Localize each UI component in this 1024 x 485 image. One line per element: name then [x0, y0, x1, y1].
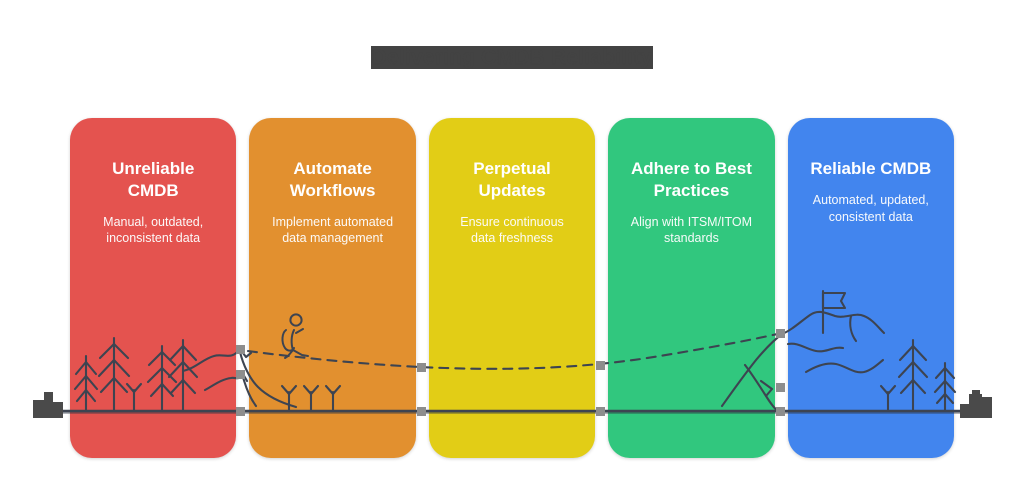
stage-card-adhere-to-best-practices[interactable]: Adhere to Best Practices Align with ITSM… — [608, 118, 774, 458]
left-end-marker — [33, 388, 63, 418]
card-title-line-1: Unreliable — [112, 159, 194, 178]
card-subtitle: Implement automated data management — [259, 214, 405, 248]
card-text-block: Automate Workflows Implement automated d… — [249, 158, 415, 247]
card-subtitle-line-1: Ensure continuous — [460, 215, 564, 229]
card-text-block: Adhere to Best Practices Align with ITSM… — [608, 158, 774, 247]
card-subtitle: Align with ITSM/ITOM standards — [618, 214, 764, 248]
card-title-line-1: Perpetual — [473, 159, 550, 178]
card-title: Automate Workflows — [259, 158, 405, 202]
card-subtitle: Manual, outdated, inconsistent data — [80, 214, 226, 248]
card-text-block: Unreliable CMDB Manual, outdated, incons… — [70, 158, 236, 247]
card-subtitle-line-1: Automated, updated, — [813, 193, 929, 207]
card-subtitle-line-2: inconsistent data — [106, 231, 200, 245]
card-subtitle: Ensure continuous data freshness — [439, 214, 585, 248]
card-title-line-2: Workflows — [290, 181, 376, 200]
infographic-canvas: Delivering CMDB Reliability Unreliable C… — [0, 0, 1024, 485]
card-title-line-1: Automate — [293, 159, 371, 178]
card-title: Adhere to Best Practices — [618, 158, 764, 202]
card-text-block: Reliable CMDB Automated, updated, consis… — [788, 158, 954, 226]
card-subtitle-line-2: consistent data — [829, 210, 913, 224]
stage-card-row: Unreliable CMDB Manual, outdated, incons… — [70, 118, 954, 458]
stage-card-perpetual-updates[interactable]: Perpetual Updates Ensure continuous data… — [429, 118, 595, 458]
card-title-line-2: Practices — [654, 181, 730, 200]
stage-card-unreliable-cmdb[interactable]: Unreliable CMDB Manual, outdated, incons… — [70, 118, 236, 458]
card-subtitle-line-1: Manual, outdated, — [103, 215, 203, 229]
card-subtitle-line-2: data management — [282, 231, 383, 245]
card-subtitle-line-1: Align with ITSM/ITOM — [631, 215, 752, 229]
page-title: Delivering CMDB Reliability — [0, 46, 1024, 70]
stage-card-reliable-cmdb[interactable]: Reliable CMDB Automated, updated, consis… — [788, 118, 954, 458]
card-subtitle-line-2: data freshness — [471, 231, 553, 245]
card-title-line-1: Reliable CMDB — [810, 159, 931, 178]
card-subtitle: Automated, updated, consistent data — [798, 192, 944, 226]
card-title: Perpetual Updates — [439, 158, 585, 202]
card-title: Unreliable CMDB — [80, 158, 226, 202]
card-title-line-2: CMDB — [128, 181, 179, 200]
stage-card-automate-workflows[interactable]: Automate Workflows Implement automated d… — [249, 118, 415, 458]
right-end-marker — [960, 388, 992, 418]
card-text-block: Perpetual Updates Ensure continuous data… — [429, 158, 595, 247]
card-title: Reliable CMDB — [798, 158, 944, 180]
card-title-line-1: Adhere to Best — [631, 159, 752, 178]
card-subtitle-line-2: standards — [664, 231, 719, 245]
page-title-text: Delivering CMDB Reliability — [371, 46, 654, 69]
card-subtitle-line-1: Implement automated — [272, 215, 393, 229]
card-title-line-2: Updates — [478, 181, 545, 200]
